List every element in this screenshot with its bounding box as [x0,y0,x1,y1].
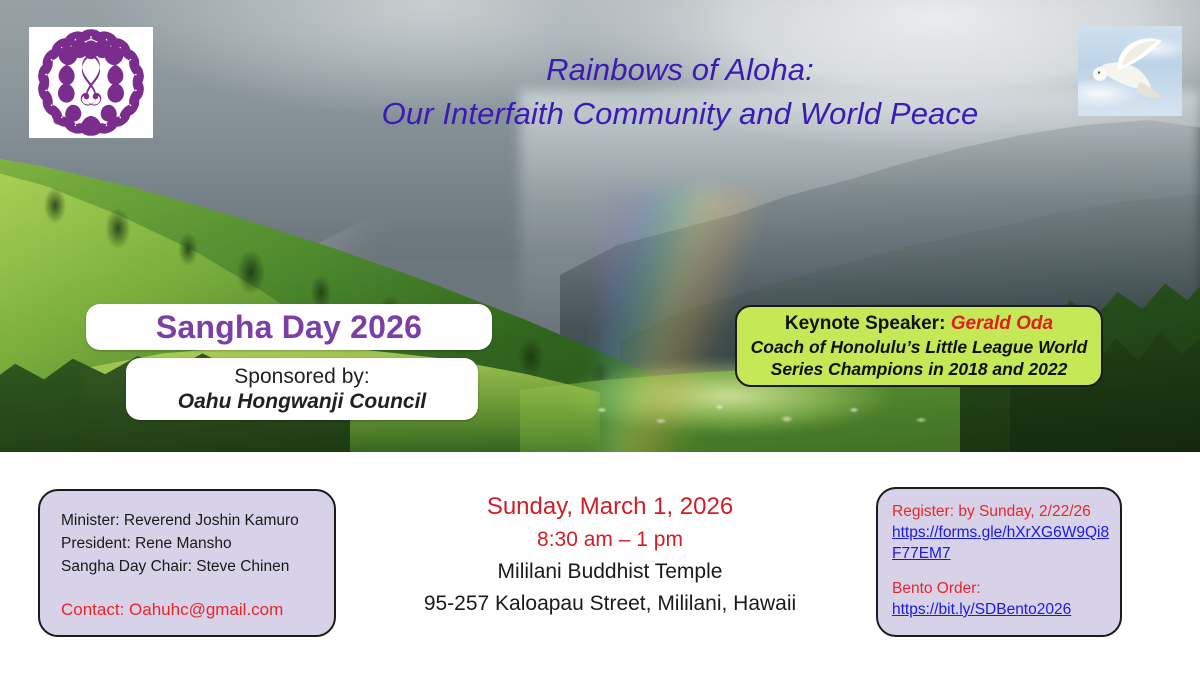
registration-box: Register: by Sunday, 2/22/26 https://for… [876,487,1122,637]
register-form-link-line-1[interactable]: https://forms.gle/hXrXG6W9Qi8 [892,522,1120,543]
event-date: Sunday, March 1, 2026 [395,490,825,524]
event-title-banner: Sangha Day 2026 [86,304,492,350]
spacer [892,564,1120,578]
headline-line-2: Our Interfaith Community and World Peace [300,92,1060,136]
register-form-link-line-2[interactable]: F77EM7 [892,543,1120,564]
event-details: Sunday, March 1, 2026 8:30 am – 1 pm Mil… [395,490,825,620]
contact-box: Minister: Reverend Joshin Kamuro Preside… [38,489,336,637]
contact-box-content: Minister: Reverend Joshin Kamuro Preside… [40,491,334,621]
register-deadline-label: Register: by Sunday, 2/22/26 [892,501,1120,522]
president-line: President: Rene Mansho [61,532,334,555]
contact-email-line[interactable]: Contact: Oahuhc@gmail.com [61,598,334,621]
sponsor-banner: Sponsored by: Oahu Hongwanji Council [126,358,478,420]
white-dove-icon [1078,26,1182,116]
minister-line: Minister: Reverend Joshin Kamuro [61,509,334,532]
keynote-speaker-line: Keynote Speaker: Gerald Oda [785,312,1053,336]
bento-order-link[interactable]: https://bit.ly/SDBento2026 [892,599,1120,620]
keynote-speaker-name: Gerald Oda [951,313,1053,334]
headline-line-1: Rainbows of Aloha: [546,52,814,87]
keynote-bio-line-1: Coach of Honolulu’s Little League World [751,336,1088,358]
page-title: Rainbows of Aloha: Our Interfaith Commun… [300,48,1060,136]
sponsored-by-label: Sponsored by: [234,364,369,389]
registration-box-content: Register: by Sunday, 2/22/26 https://for… [878,489,1120,620]
keynote-bio-line-2: Series Champions in 2018 and 2022 [771,358,1068,380]
sponsor-name: Oahu Hongwanji Council [178,389,427,415]
event-title: Sangha Day 2026 [156,310,422,344]
hongwanji-wisteria-crest-icon: R [29,27,153,138]
keynote-speaker-box: Keynote Speaker: Gerald Oda Coach of Hon… [735,305,1103,387]
event-time: 8:30 am – 1 pm [395,524,825,556]
event-venue: Mililani Buddhist Temple [395,556,825,588]
sangha-day-chair-line: Sangha Day Chair: Steve Chinen [61,555,334,578]
keynote-speaker-label: Keynote Speaker: [785,313,951,334]
flyer-page: R Rainbows of Aloha: Our Interfaith Com [0,0,1200,678]
event-address: 95-257 Kaloapau Street, Mililani, Hawaii [395,588,825,620]
bento-order-label: Bento Order: [892,578,1120,599]
